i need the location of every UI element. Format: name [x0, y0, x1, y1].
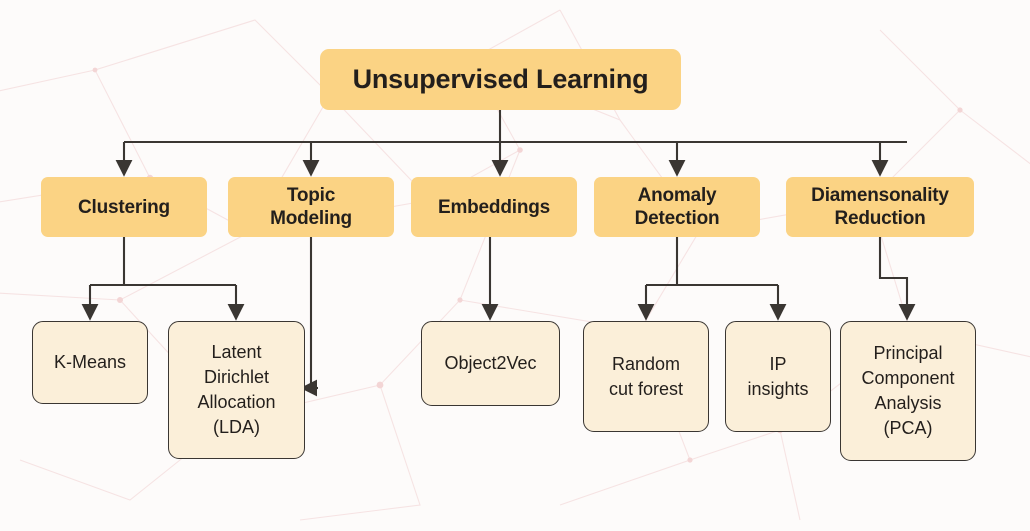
node-category-topic-modeling[interactable]: Topic Modeling	[228, 177, 394, 237]
node-leaf-object2vec-label: Object2Vec	[436, 351, 544, 376]
node-category-embeddings[interactable]: Embeddings	[411, 177, 577, 237]
node-leaf-pca-label: Principal Component Analysis (PCA)	[853, 341, 962, 441]
node-category-dimensionality-reduction[interactable]: Diamensonality Reduction	[786, 177, 974, 237]
node-category-dimensionality-reduction-label: Diamensonality Reduction	[803, 184, 957, 230]
edge-topic-modeling-lda	[308, 237, 311, 388]
diagram-canvas: Unsupervised Learning Clustering Topic M…	[0, 0, 1030, 531]
node-leaf-kmeans-label: K-Means	[46, 350, 134, 375]
node-leaf-ip-insights-label: IP insights	[739, 352, 816, 402]
node-leaf-random-cut-forest[interactable]: Random cut forest	[583, 321, 709, 432]
edge-dimensionality-pca	[880, 237, 907, 318]
node-category-clustering[interactable]: Clustering	[41, 177, 207, 237]
node-category-topic-modeling-label: Topic Modeling	[262, 184, 360, 230]
node-leaf-random-cut-forest-label: Random cut forest	[601, 352, 691, 402]
node-category-anomaly-detection-label: Anomaly Detection	[627, 184, 728, 230]
node-category-anomaly-detection[interactable]: Anomaly Detection	[594, 177, 760, 237]
node-root-label: Unsupervised Learning	[345, 64, 657, 95]
node-root[interactable]: Unsupervised Learning	[320, 49, 681, 110]
node-leaf-object2vec[interactable]: Object2Vec	[421, 321, 560, 406]
node-category-clustering-label: Clustering	[70, 196, 178, 219]
node-leaf-ip-insights[interactable]: IP insights	[725, 321, 831, 432]
node-leaf-lda-label: Latent Dirichlet Allocation (LDA)	[189, 340, 283, 440]
node-leaf-lda[interactable]: Latent Dirichlet Allocation (LDA)	[168, 321, 305, 459]
node-leaf-kmeans[interactable]: K-Means	[32, 321, 148, 404]
node-category-embeddings-label: Embeddings	[430, 196, 558, 219]
node-leaf-pca[interactable]: Principal Component Analysis (PCA)	[840, 321, 976, 461]
